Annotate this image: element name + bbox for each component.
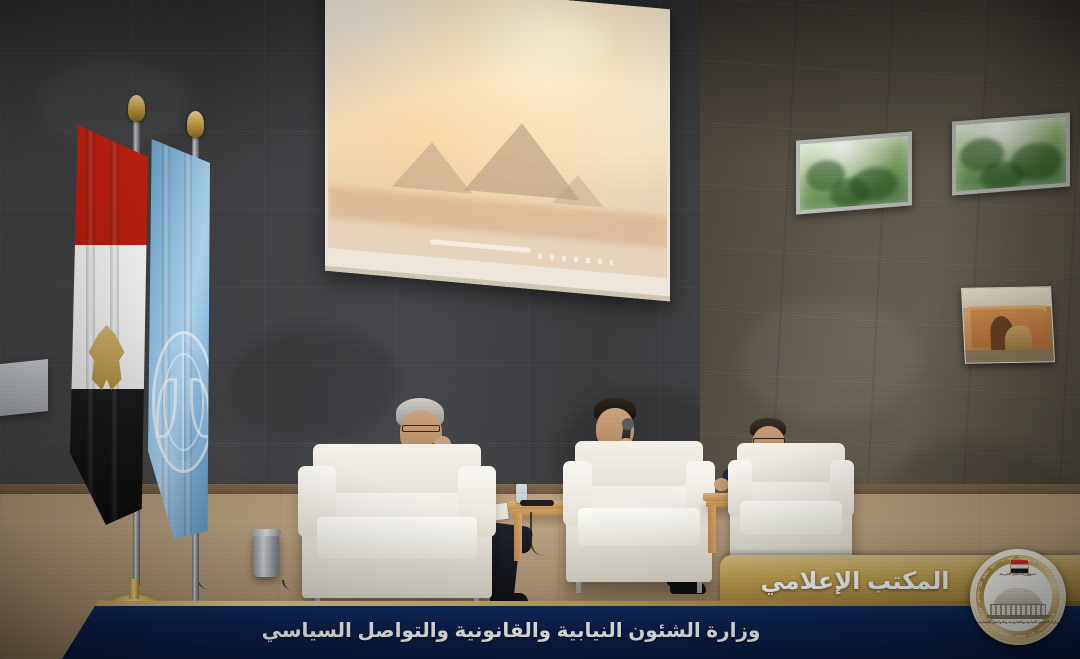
pyramid-distant [552, 170, 604, 208]
window-left [796, 131, 912, 214]
pyramid-small [392, 135, 472, 193]
flag-fold [110, 125, 119, 525]
projection-screen [325, 0, 670, 301]
glasses-icon [402, 425, 440, 432]
un-emblem-icon [152, 331, 210, 473]
united-nations-flag [148, 139, 210, 539]
screen-image-pyramids [328, 0, 667, 278]
waste-bin [253, 533, 279, 577]
photo-stage: المكتب الإعلامي وزارة الشئون النيابية وا… [0, 0, 1080, 659]
video-controls[interactable] [538, 254, 613, 266]
stone-texture [740, 300, 920, 420]
video-progress-bar[interactable] [430, 239, 532, 253]
armchair-left [302, 476, 492, 598]
flag-finial [187, 111, 204, 137]
window-right [952, 112, 1070, 195]
flag-base-stem [129, 579, 139, 599]
table-leg [514, 513, 522, 561]
chair-back [575, 441, 703, 486]
media-office-label: المكتب الإعلامي [738, 555, 972, 607]
chair-seat [740, 501, 842, 534]
table-leg [708, 505, 716, 553]
chair-back [737, 443, 844, 482]
ministry-banner: وزارة الشئون النيابية والقانونية والتواص… [62, 601, 1080, 659]
projector-glare [511, 1, 619, 70]
seal-top-text: جمهورية مصر العربية [970, 572, 1066, 576]
desert-dune [328, 186, 667, 249]
hand [714, 478, 729, 491]
flag-finial [128, 95, 145, 121]
chair-back [313, 444, 480, 493]
olive-branch [190, 378, 210, 438]
chair-seat [578, 508, 701, 546]
flag-stand-group [30, 95, 240, 655]
ministry-seal-icon: جمهورية مصر العربية وزارة الشئون النيابي… [970, 549, 1066, 645]
egypt-flag [70, 125, 148, 525]
armchair-center [566, 470, 712, 582]
parliament-base [987, 615, 1049, 618]
chair-seat [317, 517, 477, 558]
chair-legs [566, 582, 712, 593]
screen-frame [325, 0, 670, 301]
flag-fold [86, 125, 95, 525]
seal-bottom-text: وزارة الشئون النيابية والقانونية والتواص… [970, 620, 1066, 624]
wall-picture [961, 286, 1055, 363]
olive-branch [156, 378, 177, 438]
ministry-title: وزارة الشئون النيابية والقانونية والتواص… [62, 601, 1080, 659]
picture-ground [965, 349, 1054, 362]
table-cable [530, 512, 554, 556]
microphone-receiver [520, 500, 554, 506]
armchair-right [730, 468, 852, 566]
